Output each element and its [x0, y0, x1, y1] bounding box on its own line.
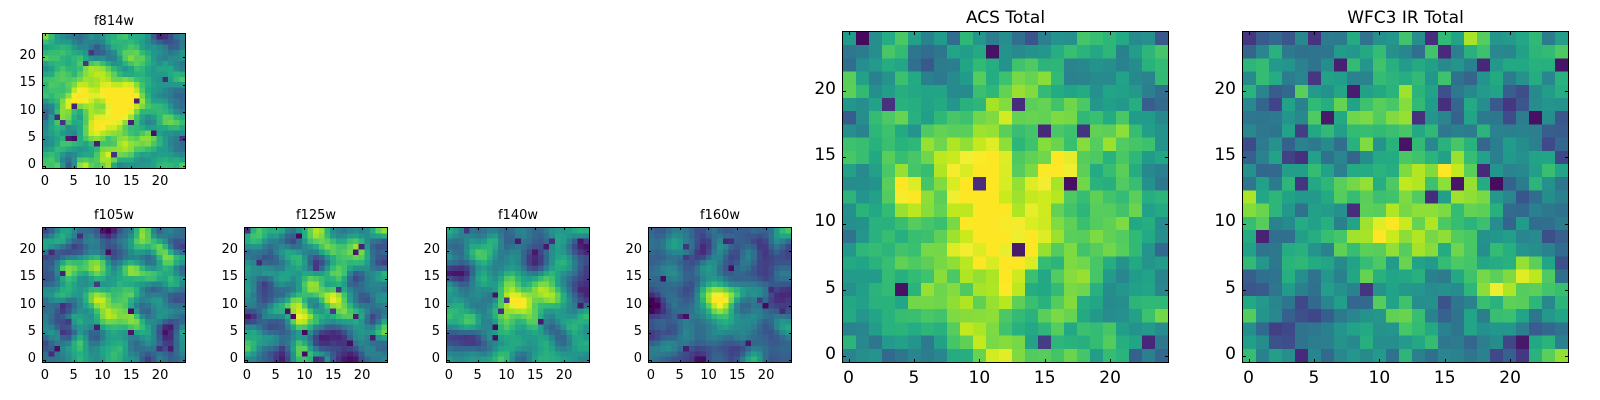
heatmap-f105w	[42, 227, 186, 363]
x-tick-label: 15	[1420, 368, 1470, 388]
x-tick-top	[1110, 31, 1111, 35]
x-tick-top	[74, 227, 75, 230]
panel-title-f140w: f140w	[446, 208, 590, 223]
x-tick-top	[74, 33, 75, 36]
y-tick-label: 10	[0, 103, 36, 118]
x-tick	[45, 166, 46, 169]
heatmap-canvas-f140w	[447, 228, 589, 362]
x-tick-label: 15	[1020, 368, 1070, 388]
x-tick	[680, 360, 681, 363]
x-tick-top	[766, 227, 767, 230]
x-tick-label: 0	[1224, 368, 1274, 388]
x-tick	[708, 360, 709, 363]
panel-f105w: f105w0510152005101520	[0, 199, 206, 395]
heatmap-canvas-f105w	[43, 228, 185, 362]
y-tick	[42, 57, 45, 58]
x-tick	[535, 360, 536, 363]
x-tick	[979, 359, 980, 363]
panel-wfc3-ir-total: WFC3 IR Total0510152005101520	[1182, 3, 1589, 395]
heatmap-canvas-f125w	[245, 228, 387, 362]
panel-acs-total: ACS Total0510152005101520	[782, 3, 1189, 395]
x-tick-label: 20	[337, 368, 387, 383]
heatmap-f125w	[244, 227, 388, 363]
y-tick	[842, 157, 846, 158]
y-tick-label: 5	[188, 324, 238, 339]
y-tick	[1242, 290, 1246, 291]
y-tick-label: 5	[0, 130, 36, 145]
x-tick	[914, 359, 915, 363]
x-tick-label: 10	[954, 368, 1004, 388]
x-tick-top	[1445, 31, 1446, 35]
y-tick-label: 20	[592, 242, 642, 257]
y-tick-right	[1565, 157, 1569, 158]
panel-f160w: f160w0510152005101520	[588, 199, 812, 395]
x-tick	[737, 360, 738, 363]
heatmap-f160w	[648, 227, 792, 363]
y-tick	[842, 290, 846, 291]
y-tick	[1242, 157, 1246, 158]
y-tick-label: 5	[390, 324, 440, 339]
y-tick-label: 20	[188, 242, 238, 257]
y-tick-label: 10	[0, 297, 36, 312]
y-tick-label: 0	[0, 157, 36, 172]
x-tick-top	[102, 227, 103, 230]
panel-title-f160w: f160w	[648, 208, 792, 223]
y-tick	[648, 251, 651, 252]
x-tick-top	[131, 227, 132, 230]
x-tick-label: 20	[539, 368, 589, 383]
y-tick	[42, 166, 45, 167]
x-tick-top	[333, 227, 334, 230]
y-tick-label: 10	[786, 211, 836, 231]
x-tick	[1445, 359, 1446, 363]
x-tick	[449, 360, 450, 363]
x-tick-top	[449, 227, 450, 230]
panel-title-f105w: f105w	[42, 208, 186, 223]
y-tick-right	[183, 112, 186, 113]
x-tick	[1045, 359, 1046, 363]
x-tick-top	[535, 227, 536, 230]
x-tick-label: 5	[889, 368, 939, 388]
x-tick-top	[1249, 31, 1250, 35]
y-tick	[42, 333, 45, 334]
y-tick-label: 15	[0, 269, 36, 284]
y-tick-label: 0	[390, 351, 440, 366]
y-tick	[244, 306, 247, 307]
x-tick-top	[979, 31, 980, 35]
x-tick	[362, 360, 363, 363]
y-tick-right	[1565, 224, 1569, 225]
y-tick	[446, 360, 449, 361]
x-tick-top	[564, 227, 565, 230]
x-tick-top	[160, 227, 161, 230]
y-tick-right	[183, 85, 186, 86]
y-tick-label: 20	[0, 48, 36, 63]
x-tick	[160, 166, 161, 169]
y-tick-label: 15	[592, 269, 642, 284]
y-tick	[42, 139, 45, 140]
panel-title-wfc3-ir-total: WFC3 IR Total	[1242, 8, 1569, 28]
x-tick	[333, 360, 334, 363]
heatmap-acs-total	[842, 31, 1169, 363]
x-tick	[478, 360, 479, 363]
x-tick	[131, 166, 132, 169]
x-tick	[131, 360, 132, 363]
x-tick-top	[131, 33, 132, 36]
x-tick-top	[45, 33, 46, 36]
x-tick	[849, 359, 850, 363]
y-tick	[244, 360, 247, 361]
x-tick	[506, 360, 507, 363]
y-tick-label: 5	[592, 324, 642, 339]
x-tick	[276, 360, 277, 363]
x-tick-top	[1379, 31, 1380, 35]
y-tick	[842, 91, 846, 92]
x-tick-top	[478, 227, 479, 230]
x-tick	[1314, 359, 1315, 363]
y-tick-label: 0	[592, 351, 642, 366]
y-tick-label: 15	[188, 269, 238, 284]
x-tick-top	[849, 31, 850, 35]
x-tick-label: 20	[1085, 368, 1135, 388]
y-tick-label: 15	[1186, 145, 1236, 165]
y-tick	[446, 333, 449, 334]
y-tick-label: 10	[390, 297, 440, 312]
x-tick-label: 0	[824, 368, 874, 388]
x-tick	[564, 360, 565, 363]
y-tick	[842, 224, 846, 225]
x-tick	[160, 360, 161, 363]
y-tick	[42, 112, 45, 113]
heatmap-f140w	[446, 227, 590, 363]
y-tick-right	[1165, 356, 1169, 357]
y-tick	[648, 306, 651, 307]
y-tick-label: 0	[0, 351, 36, 366]
panel-title-f814w: f814w	[42, 14, 186, 29]
y-tick	[1242, 224, 1246, 225]
y-tick-label: 0	[1186, 344, 1236, 364]
y-tick-label: 5	[1186, 278, 1236, 298]
y-tick-right	[1565, 91, 1569, 92]
x-tick-top	[102, 33, 103, 36]
y-tick-label: 15	[0, 75, 36, 90]
panel-f814w: f814w0510152005101520	[0, 5, 206, 201]
y-tick	[446, 306, 449, 307]
y-tick-label: 0	[188, 351, 238, 366]
y-tick-label: 10	[1186, 211, 1236, 231]
x-tick-label: 20	[135, 174, 185, 189]
y-tick	[842, 356, 846, 357]
x-tick-top	[1314, 31, 1315, 35]
panel-title-f125w: f125w	[244, 208, 388, 223]
y-tick	[244, 333, 247, 334]
x-tick	[74, 166, 75, 169]
x-tick-label: 20	[135, 368, 185, 383]
y-tick-label: 5	[0, 324, 36, 339]
y-tick-right	[183, 166, 186, 167]
x-tick-top	[247, 227, 248, 230]
y-tick-label: 10	[188, 297, 238, 312]
x-tick-top	[651, 227, 652, 230]
y-tick-label: 5	[786, 278, 836, 298]
x-tick-label: 10	[1354, 368, 1404, 388]
y-tick-label: 10	[592, 297, 642, 312]
heatmap-canvas-acs-total	[843, 32, 1168, 362]
heatmap-f814w	[42, 33, 186, 169]
heatmap-canvas-f160w	[649, 228, 791, 362]
x-tick-top	[708, 227, 709, 230]
x-tick-top	[1045, 31, 1046, 35]
x-tick	[102, 360, 103, 363]
panel-title-acs-total: ACS Total	[842, 8, 1169, 28]
x-tick	[74, 360, 75, 363]
y-tick-label: 15	[390, 269, 440, 284]
y-tick	[244, 251, 247, 252]
y-tick	[42, 85, 45, 86]
x-tick-top	[914, 31, 915, 35]
y-tick-right	[1165, 224, 1169, 225]
y-tick-right	[1565, 356, 1569, 357]
x-tick	[651, 360, 652, 363]
x-tick-top	[737, 227, 738, 230]
x-tick	[45, 360, 46, 363]
x-tick	[1510, 359, 1511, 363]
y-tick	[42, 251, 45, 252]
y-tick	[244, 279, 247, 280]
x-tick-top	[160, 33, 161, 36]
x-tick-top	[362, 227, 363, 230]
x-tick-top	[1510, 31, 1511, 35]
y-tick-label: 0	[786, 344, 836, 364]
y-tick	[648, 360, 651, 361]
x-tick-top	[45, 227, 46, 230]
heatmap-wfc3-ir-total	[1242, 31, 1569, 363]
y-tick	[42, 279, 45, 280]
heatmap-canvas-f814w	[43, 34, 185, 168]
y-tick	[1242, 356, 1246, 357]
y-tick-label: 20	[0, 242, 36, 257]
x-tick	[766, 360, 767, 363]
x-tick-top	[276, 227, 277, 230]
x-tick	[1379, 359, 1380, 363]
y-tick-right	[183, 139, 186, 140]
y-tick-label: 20	[786, 79, 836, 99]
y-tick-right	[1565, 290, 1569, 291]
x-tick-top	[680, 227, 681, 230]
x-tick-top	[304, 227, 305, 230]
x-tick	[304, 360, 305, 363]
panel-f140w: f140w0510152005101520	[386, 199, 610, 395]
heatmap-canvas-wfc3-ir-total	[1243, 32, 1568, 362]
x-tick	[247, 360, 248, 363]
panel-f125w: f125w0510152005101520	[184, 199, 408, 395]
y-tick	[446, 279, 449, 280]
y-tick-right	[183, 57, 186, 58]
y-tick-right	[1165, 290, 1169, 291]
x-tick-label: 20	[1485, 368, 1535, 388]
x-tick	[1249, 359, 1250, 363]
y-tick	[42, 360, 45, 361]
y-tick-label: 20	[390, 242, 440, 257]
y-tick	[446, 251, 449, 252]
x-tick-top	[506, 227, 507, 230]
y-tick	[648, 279, 651, 280]
y-tick-label: 20	[1186, 79, 1236, 99]
y-tick	[648, 333, 651, 334]
x-tick	[1110, 359, 1111, 363]
y-tick-right	[1165, 157, 1169, 158]
x-tick	[102, 166, 103, 169]
y-tick	[42, 306, 45, 307]
y-tick-label: 15	[786, 145, 836, 165]
x-tick-label: 5	[1289, 368, 1339, 388]
y-tick	[1242, 91, 1246, 92]
y-tick-right	[1165, 91, 1169, 92]
